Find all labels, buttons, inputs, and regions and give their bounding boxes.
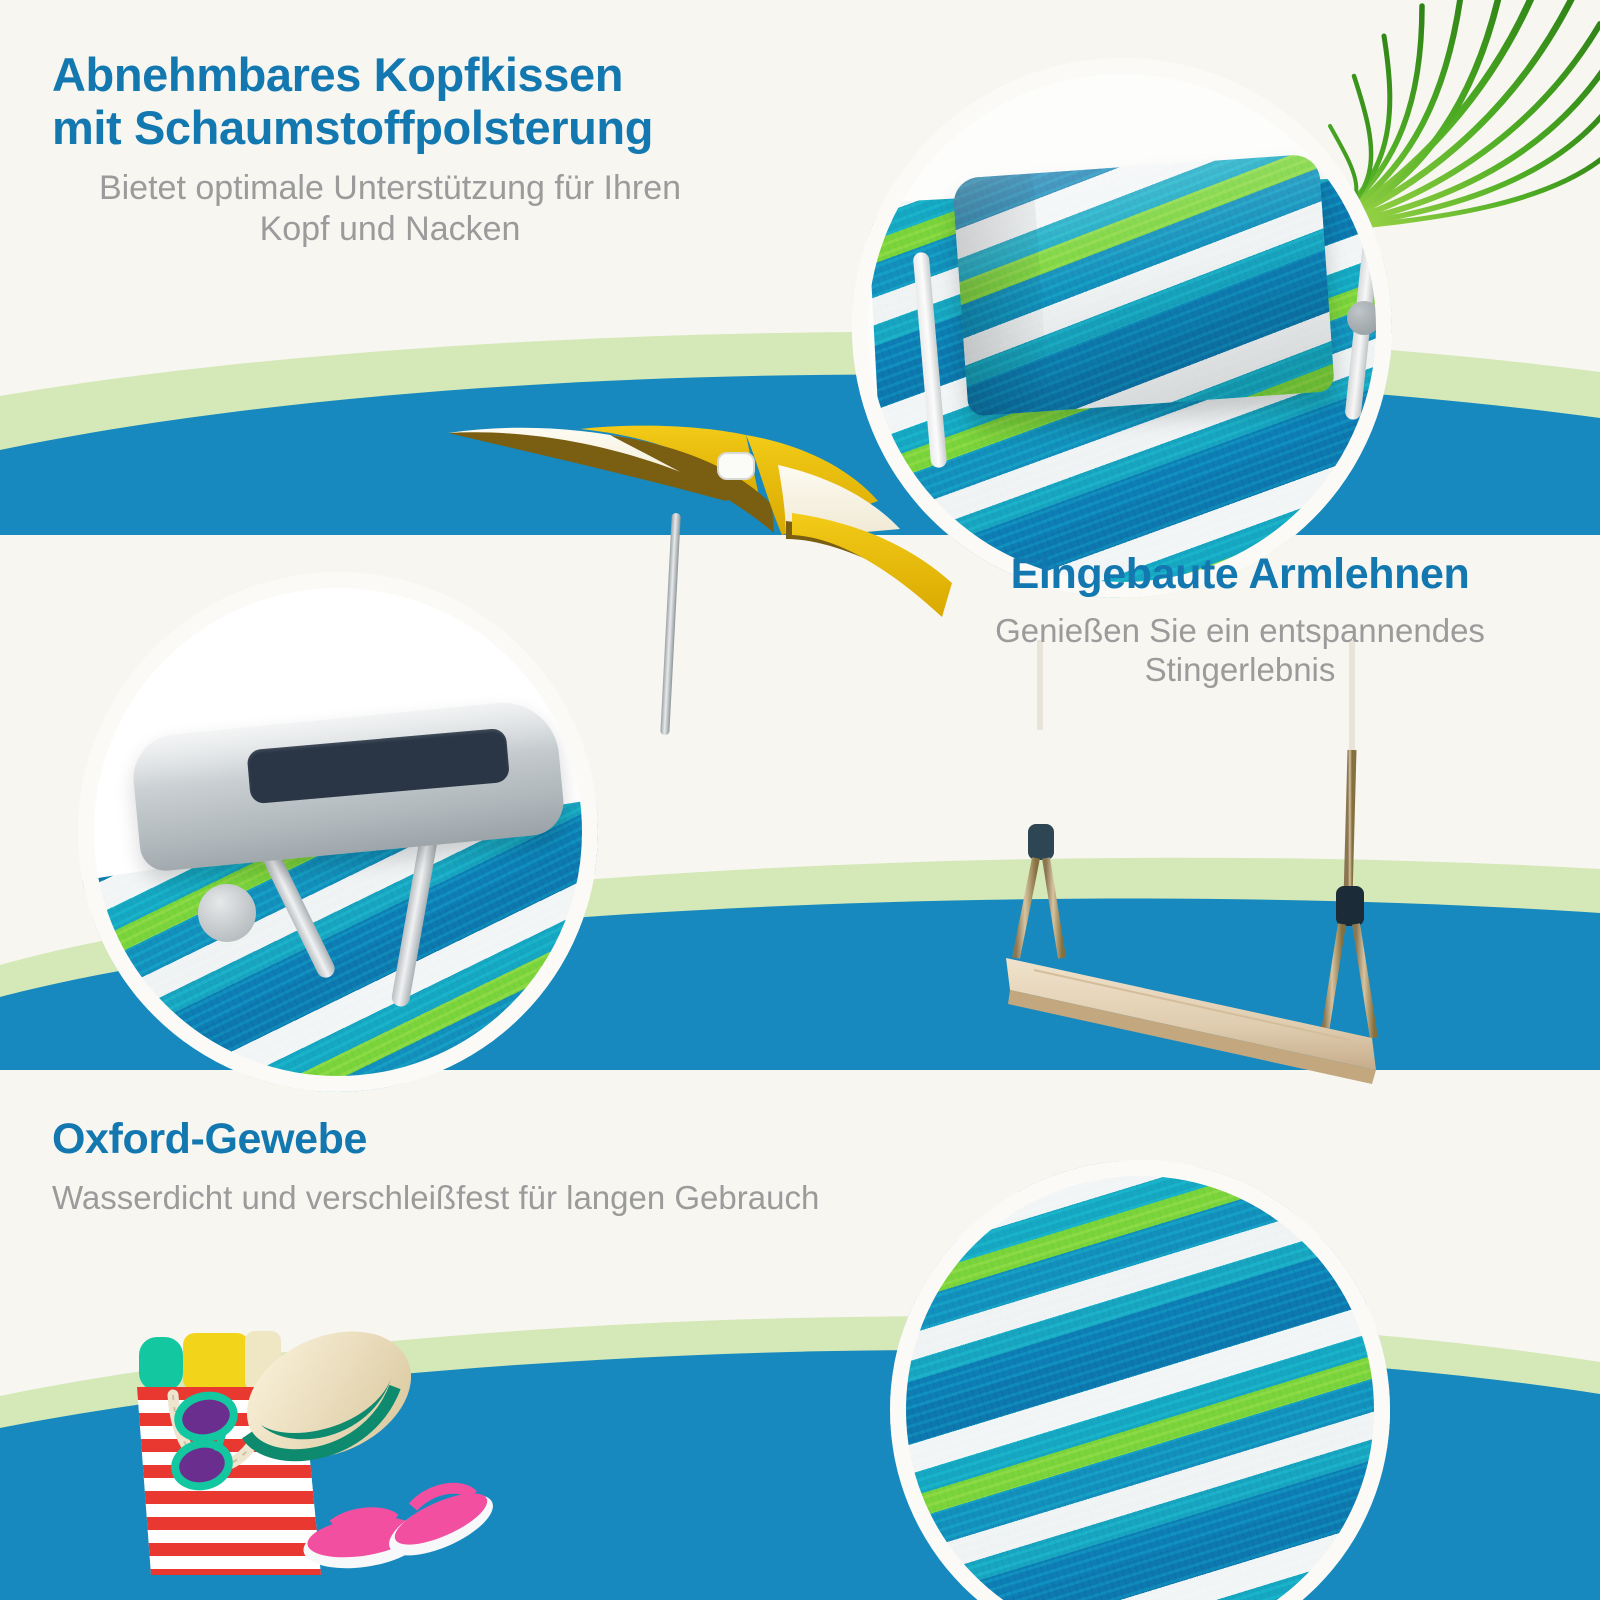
rope-right-fork-b: [1356, 924, 1374, 1038]
feature-heading-headrest: Abnehmbares Kopfkissen mit Schaumstoffpo…: [52, 48, 752, 154]
beach-bag-set-icon: [95, 1275, 535, 1595]
feature-subtext-headrest: Bietet optimale Unterstützung für Ihren …: [52, 168, 752, 250]
headrest-pillow: [952, 153, 1335, 416]
umbrella-pole: [660, 513, 681, 735]
rope-left-fork-b: [1046, 858, 1062, 958]
rope-clamp-right: [1336, 886, 1364, 926]
umbrella-top-cap: [718, 453, 754, 479]
feature-text-fabric: Oxford-Gewebe Wasserdicht und verschleiß…: [52, 1115, 952, 1217]
fabric-photo: [890, 1160, 1390, 1600]
feature-text-headrest: Abnehmbares Kopfkissen mit Schaumstoffpo…: [52, 48, 752, 250]
feature-text-armrests: Eingebaute Armlehnen Genießen Sie ein en…: [930, 550, 1550, 690]
heading-line-1: Oxford-Gewebe: [52, 1115, 952, 1164]
feature-subtext-fabric: Wasserdicht und verschleißfest für lange…: [52, 1178, 952, 1218]
fabric-pattern: [890, 1160, 1390, 1600]
infographic-canvas: Abnehmbares Kopfkissen mit Schaumstoffpo…: [0, 0, 1600, 1600]
towel-yellow: [183, 1333, 249, 1391]
beach-umbrella-svg: [430, 405, 970, 735]
rope-right-fork-a: [1324, 924, 1342, 1038]
towel-teal: [139, 1337, 183, 1391]
heading-line-1: Eingebaute Armlehnen: [930, 550, 1550, 599]
subtext-line-1: Bietet optimale Unterstützung für Ihren: [52, 168, 728, 209]
pillow-highlight: [952, 153, 1335, 416]
chair-pivot-knob: [1347, 301, 1381, 335]
rope-left-fork-a: [1016, 858, 1036, 958]
wooden-swing-icon: [980, 640, 1410, 1110]
heading-line-1: Abnehmbares Kopfkissen: [52, 48, 752, 101]
beach-umbrella-icon: [430, 405, 970, 735]
heading-line-2: mit Schaumstoffpolsterung: [52, 101, 752, 154]
flip-flops: [300, 1482, 501, 1575]
feature-heading-armrests: Eingebaute Armlehnen: [930, 550, 1550, 599]
subtext-line-2: Stingerlebnis: [930, 650, 1550, 690]
feature-heading-fabric: Oxford-Gewebe: [52, 1115, 952, 1164]
feature-subtext-armrests: Genießen Sie ein entspannendes Stingerle…: [930, 611, 1550, 690]
fabric-photo-circle: [890, 1160, 1390, 1600]
rope-clamp-left: [1028, 824, 1054, 860]
subtext-line-1: Wasserdicht und verschleißfest für lange…: [52, 1178, 952, 1218]
wooden-swing-svg: [980, 640, 1410, 1110]
armrest-hinge: [198, 884, 256, 942]
beach-bag-svg: [95, 1275, 535, 1595]
rope-right: [1348, 750, 1352, 898]
subtext-line-1: Genießen Sie ein entspannendes: [930, 611, 1550, 651]
subtext-line-2: Kopf und Nacken: [52, 209, 728, 250]
